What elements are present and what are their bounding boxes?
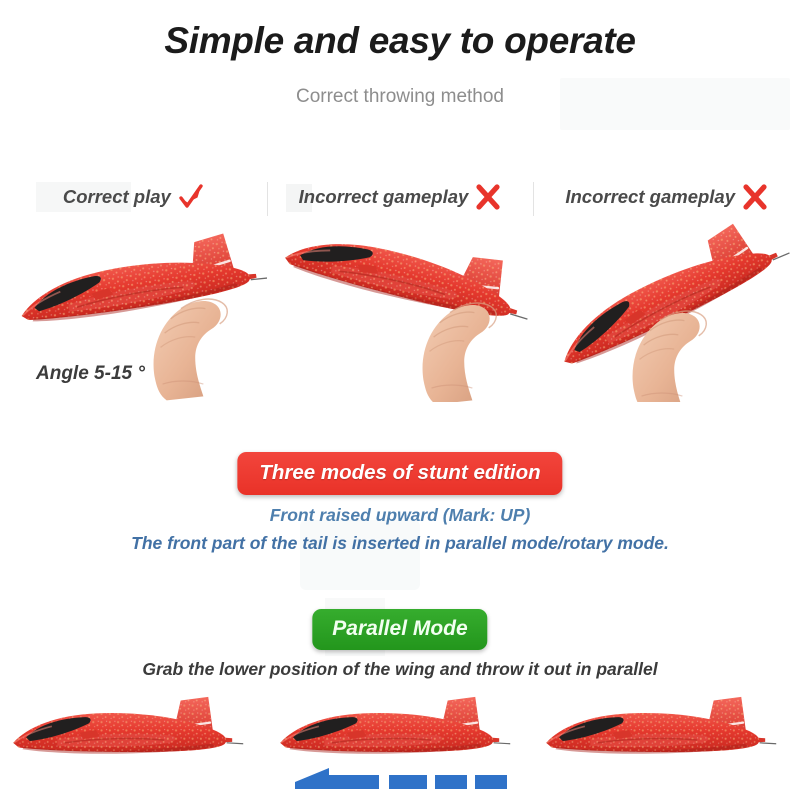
panel-label-text: Incorrect gameplay [565,186,735,208]
plane-level-1 [0,690,267,765]
panel-incorrect-nose-down: Incorrect gameplay [267,178,534,403]
x-mark-icon [475,184,501,210]
panel-label-row: Correct play [0,184,267,210]
panel-label-row: Incorrect gameplay [533,184,800,210]
left-arrow-dashed-icon [293,766,507,792]
plane-level-3 [533,690,800,765]
plane-level-2 [267,690,534,765]
check-mark-icon [178,184,204,210]
stunt-note-line-2: The front part of the tail is inserted i… [0,533,800,554]
background-artifact [300,520,420,590]
panel-label-row: Incorrect gameplay [267,184,534,210]
infographic-page: Simple and easy to operate Correct throw… [0,0,800,800]
parallel-mode-instruction: Grab the lower position of the wing and … [0,659,800,680]
stunt-note-line-1: Front raised upward (Mark: UP) [0,505,800,526]
angle-annotation: Angle 5-15 ° [36,363,145,385]
parallel-mode-badge: Parallel Mode [312,609,487,650]
page-subtitle: Correct throwing method [0,86,800,108]
panel-label-text: Incorrect gameplay [299,186,469,208]
direction-arrow-wrap [0,766,800,796]
page-title: Simple and easy to operate [0,20,800,62]
panel-incorrect-steep-up: Incorrect gameplay [533,178,800,403]
panel-label-text: Correct play [63,186,171,208]
stunt-edition-banner: Three modes of stunt edition [237,452,562,495]
plane-photo-incorrect-2 [533,216,800,402]
plane-photo-incorrect-1 [267,216,534,402]
parallel-plane-row [0,690,800,765]
x-mark-icon [742,184,768,210]
